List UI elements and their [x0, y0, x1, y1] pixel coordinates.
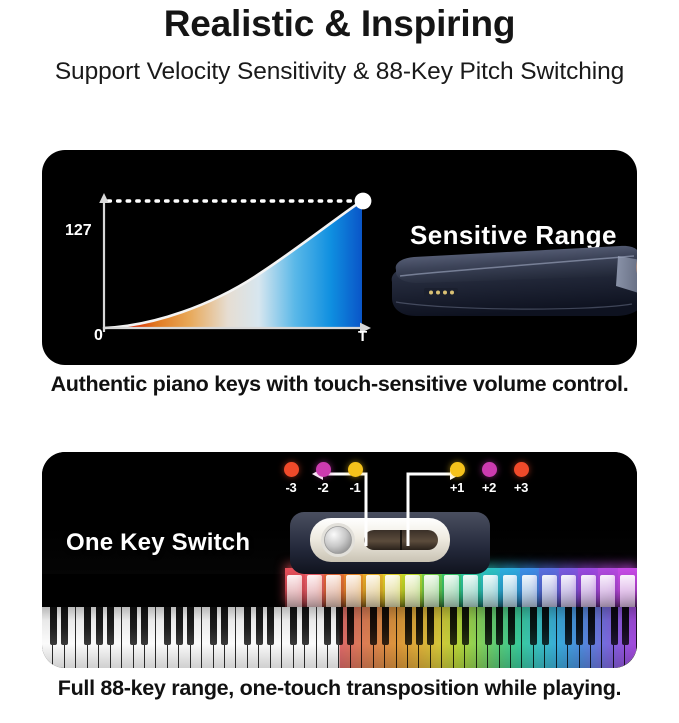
transpose-dot-label: -2	[307, 480, 339, 495]
transpose-dot-label: +2	[473, 480, 505, 495]
transpose-dot-label: -1	[339, 480, 371, 495]
transpose-dot-icon	[450, 462, 465, 477]
x-axis-label: T	[358, 328, 367, 345]
contact-dots	[424, 288, 458, 297]
velocity-chart: 127 0 T	[62, 180, 382, 345]
transpose-up-indicators: +1+2+3	[441, 462, 537, 495]
transpose-dot-icon	[348, 462, 363, 477]
switch-caption: Full 88-key range, one-touch transpositi…	[0, 676, 679, 701]
piano-keyboard	[42, 607, 637, 668]
velocity-curve-svg	[62, 180, 382, 345]
transpose-dot-label: -3	[275, 480, 307, 495]
transpose-indicator-plus2: +2	[473, 462, 505, 495]
transpose-dot-label: +3	[505, 480, 537, 495]
velocity-area-fill	[104, 201, 362, 328]
transpose-down-indicators: -3-2-1	[275, 462, 371, 495]
transpose-indicator-minus3: -3	[275, 462, 307, 495]
one-key-switch-panel: One Key Switch -3-2-1 +1+2+3	[42, 452, 637, 668]
y-axis-arrowhead-icon	[99, 193, 109, 203]
transpose-dot-icon	[514, 462, 529, 477]
folded-piano-illustration	[382, 210, 637, 365]
origin-label: 0	[94, 327, 103, 345]
curve-endpoint-marker	[355, 193, 372, 210]
velocity-caption: Authentic piano keys with touch-sensitiv…	[0, 372, 679, 397]
transpose-dot-icon	[284, 462, 299, 477]
transpose-indicator-plus1: +1	[441, 462, 473, 495]
page-subtitle: Support Velocity Sensitivity & 88-Key Pi…	[0, 57, 679, 87]
page-title: Realistic & Inspiring	[0, 2, 679, 46]
rainbow-key-tint	[42, 607, 637, 668]
transpose-dot-icon	[316, 462, 331, 477]
transpose-indicator-minus2: -2	[307, 462, 339, 495]
transpose-dot-label: +1	[441, 480, 473, 495]
y-max-label: 127	[65, 222, 92, 240]
transpose-dot-icon	[482, 462, 497, 477]
page-header: Realistic & Inspiring Support Velocity S…	[0, 0, 679, 87]
transpose-indicator-plus3: +3	[505, 462, 537, 495]
velocity-panel: 127 0 T Sensitive Range	[42, 150, 637, 365]
transpose-indicator-minus1: -1	[339, 462, 371, 495]
